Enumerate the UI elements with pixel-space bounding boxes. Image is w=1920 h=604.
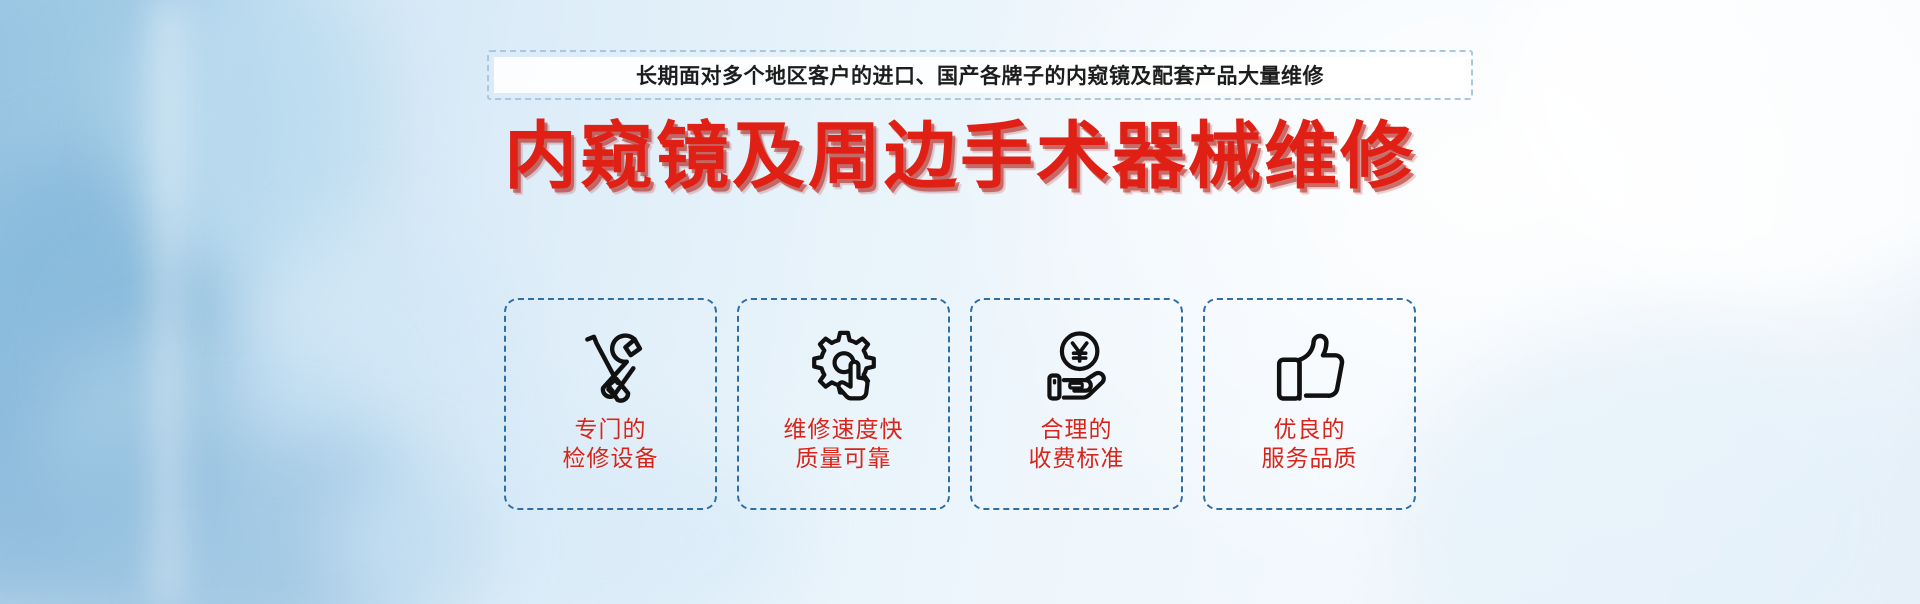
feature-card-tools[interactable]: 专门的 检修设备 bbox=[504, 298, 717, 510]
banner-stage: 长期面对多个地区客户的进口、国产各牌子的内窥镜及配套产品大量维修 内窥镜及周边手… bbox=[0, 0, 1920, 604]
feature-label-line1: 优良的 bbox=[1274, 417, 1346, 443]
feature-label-line1: 维修速度快 bbox=[784, 417, 904, 443]
feature-label-line1: 合理的 bbox=[1041, 417, 1113, 443]
feature-list: 专门的 检修设备 维修速度快 质量可靠 bbox=[504, 298, 1416, 510]
thumbs-up-icon bbox=[1267, 324, 1353, 410]
hand-holding-yuan-coin-icon bbox=[1034, 324, 1120, 410]
feature-card-service[interactable]: 优良的 服务品质 bbox=[1203, 298, 1416, 510]
gear-cursor-click-icon bbox=[801, 324, 887, 410]
tagline-inner-panel: 长期面对多个地区客户的进口、国产各牌子的内窥镜及配套产品大量维修 bbox=[494, 57, 1466, 93]
tools-screwdriver-wrench-icon bbox=[568, 324, 654, 410]
feature-label-line1: 专门的 bbox=[575, 417, 647, 443]
feature-label: 合理的 收费标准 bbox=[1029, 416, 1125, 475]
feature-card-speed[interactable]: 维修速度快 质量可靠 bbox=[737, 298, 950, 510]
page-title: 内窥镜及周边手术器械维修 bbox=[0, 118, 1920, 197]
tagline-text: 长期面对多个地区客户的进口、国产各牌子的内窥镜及配套产品大量维修 bbox=[636, 60, 1324, 90]
feature-label: 优良的 服务品质 bbox=[1262, 416, 1358, 475]
feature-label: 专门的 检修设备 bbox=[563, 416, 659, 475]
feature-label: 维修速度快 质量可靠 bbox=[784, 416, 904, 475]
feature-label-line2: 质量可靠 bbox=[784, 445, 904, 474]
feature-label-line2: 检修设备 bbox=[563, 445, 659, 474]
feature-card-price[interactable]: 合理的 收费标准 bbox=[970, 298, 1183, 510]
tagline-box: 长期面对多个地区客户的进口、国产各牌子的内窥镜及配套产品大量维修 bbox=[487, 50, 1473, 100]
feature-label-line2: 收费标准 bbox=[1029, 445, 1125, 474]
feature-label-line2: 服务品质 bbox=[1262, 445, 1358, 474]
